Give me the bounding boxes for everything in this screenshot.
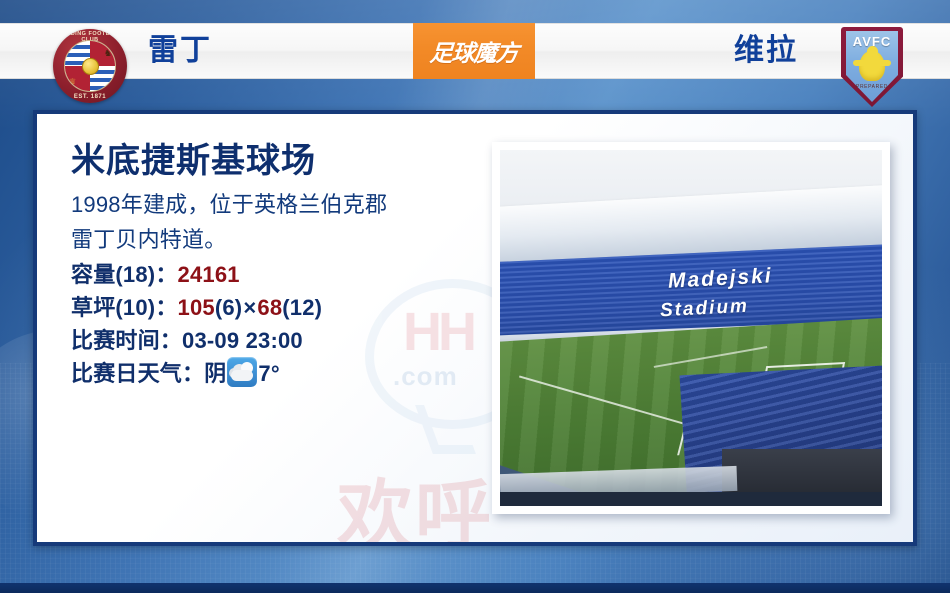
stadium-sign-line-2: Stadium (660, 295, 750, 322)
reading-crest-inner: ♞ ♕ (64, 40, 116, 92)
stadium-title: 米底捷斯基球场 (71, 142, 501, 181)
pitch-width-rank: (12) (282, 295, 322, 320)
cloudy-icon (227, 357, 257, 387)
away-team-name: 维拉 (734, 23, 798, 79)
stadium-photo: Madejski Stadium (500, 150, 882, 506)
weather-temperature: 7° (258, 361, 279, 386)
pitch-times-symbol: × (242, 295, 257, 320)
aston-villa-crest-icon: AVFC PREPARED (841, 27, 903, 107)
stadium-description-line-1: 1998年建成，位于英格兰伯克郡 (71, 189, 501, 222)
footer-strip (0, 583, 950, 593)
pitch-row: 草坪(10)：105(6)×68(12) (71, 291, 501, 324)
site-logo[interactable]: 足球魔方 (413, 23, 535, 79)
cloud-base (231, 370, 253, 381)
pitch-length-rank: (6) (215, 295, 243, 320)
match-time-row: 比赛时间：03-09 23:00 (71, 324, 501, 357)
villa-motto: PREPARED (841, 84, 903, 90)
home-team-name: 雷丁 (148, 23, 212, 79)
match-time-label: 比赛时间： (71, 328, 182, 353)
weather-label: 比赛日天气： (71, 361, 204, 386)
pitch-length-value: 105 (178, 295, 215, 320)
capacity-value: 24161 (178, 262, 240, 287)
capacity-row: 容量(18)：24161 (71, 258, 501, 291)
weather-row: 比赛日天气：阴7° (71, 357, 501, 390)
reading-fc-crest-icon: READING FOOTBALL CLUB EST. 1871 ♞ ♕ (53, 29, 127, 103)
match-header: READING FOOTBALL CLUB EST. 1871 ♞ ♕ 雷丁 足… (0, 23, 950, 79)
watermark-chinese-text: 欢呼 (337, 454, 493, 546)
match-stadium-card: READING FOOTBALL CLUB EST. 1871 ♞ ♕ 雷丁 足… (0, 0, 950, 593)
weather-condition: 阴 (204, 361, 226, 386)
stadium-info-text: 米底捷斯基球场 1998年建成，位于英格兰伯克郡 雷丁贝内特道。 容量(18)：… (71, 142, 501, 390)
horse-icon: ♞ (104, 48, 112, 59)
football-icon (82, 58, 99, 75)
capacity-label: 容量(18)： (71, 262, 178, 287)
stadium-info-panel: HH .com 欢呼 米底捷斯基球场 1998年建成，位于英格兰伯克郡 雷丁贝内… (33, 110, 917, 546)
site-logo-text: 足球魔方 (429, 34, 519, 68)
reading-crest-ring-bottom-text: EST. 1871 (53, 94, 127, 100)
stadium-description-line-2: 雷丁贝内特道。 (71, 224, 501, 257)
match-time-value: 03-09 23:00 (182, 328, 303, 353)
photo-bottom-edge (500, 492, 882, 506)
pitch-width-value: 68 (257, 295, 282, 320)
crown-icon: ♕ (69, 77, 76, 86)
pitch-label: 草坪(10)： (71, 295, 178, 320)
stadium-photo-frame[interactable]: Madejski Stadium (492, 142, 890, 514)
lion-icon (859, 51, 885, 81)
